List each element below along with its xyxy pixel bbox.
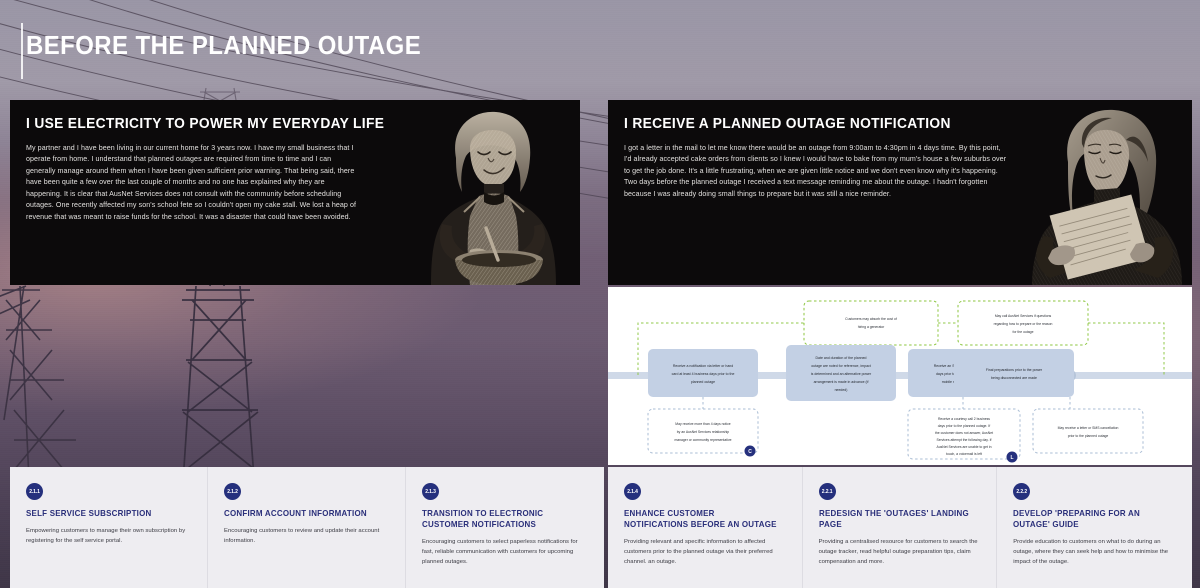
status-badge: 2.2.1 bbox=[819, 483, 836, 500]
story-panel-body: I RECEIVE A PLANNED OUTAGE NOTIFICATION … bbox=[624, 116, 1009, 200]
svg-text:arrangement is made in advance: arrangement is made in advance (if bbox=[814, 380, 869, 384]
status-badge: 2.1.3 bbox=[422, 483, 439, 500]
svg-text:by an AusNet Services relation: by an AusNet Services relationship bbox=[677, 430, 730, 434]
svg-text:outage are noted for reference: outage are noted for reference, impact bbox=[811, 364, 871, 368]
recommendation-title: SELF SERVICE SUBSCRIPTION bbox=[26, 508, 186, 519]
svg-text:manager or community represent: manager or community representative bbox=[674, 438, 731, 442]
customer-journey-diagram: Customers may absorb the cost of hiring … bbox=[608, 287, 1192, 465]
green-note-call-ausnet: May call AusNet Services if questions re… bbox=[958, 301, 1088, 345]
svg-text:touch, a voicemail is left: touch, a voicemail is left bbox=[946, 452, 982, 456]
blue-note-cancellation: May receive a letter or SMS cancellation… bbox=[1033, 409, 1143, 453]
recommendations-strip-right: 2.1.4 ENHANCE CUSTOMER NOTIFICATIONS BEF… bbox=[608, 467, 1192, 588]
svg-text:Final preparations prior to th: Final preparations prior to the power bbox=[986, 368, 1043, 372]
slide-header: BEFORE THE PLANNED OUTAGE bbox=[0, 0, 1200, 100]
story-panel-text: I got a letter in the mail to let me kno… bbox=[624, 143, 1009, 200]
story-panel-title: I USE ELECTRICITY TO POWER MY EVERYDAY L… bbox=[26, 116, 340, 132]
timeline-node: Receive a notification via letter or han… bbox=[648, 349, 758, 397]
recommendation-title: CONFIRM ACCOUNT INFORMATION bbox=[224, 508, 384, 519]
svg-text:needed): needed) bbox=[835, 388, 848, 392]
svg-text:Receive a courtesy call 2 busi: Receive a courtesy call 2 business bbox=[938, 417, 990, 421]
status-badge: 2.1.1 bbox=[26, 483, 43, 500]
woman-baking-illustration bbox=[400, 100, 580, 285]
recommendation-card[interactable]: 2.1.1 SELF SERVICE SUBSCRIPTION Empoweri… bbox=[10, 467, 208, 588]
slide-canvas: BEFORE THE PLANNED OUTAGE I USE ELECTRIC… bbox=[0, 0, 1200, 588]
svg-text:card at least 4 business days: card at least 4 business days prior to t… bbox=[672, 372, 735, 376]
recommendation-card[interactable]: 2.1.4 ENHANCE CUSTOMER NOTIFICATIONS BEF… bbox=[608, 467, 803, 588]
blue-note-advance-notice: May receive more than 4 days notice by a… bbox=[648, 409, 758, 457]
recommendation-description: Providing relevant and specific informat… bbox=[624, 537, 786, 567]
story-panel-notification: I RECEIVE A PLANNED OUTAGE NOTIFICATION … bbox=[608, 100, 1192, 285]
svg-text:Date and duration of the plann: Date and duration of the planned bbox=[816, 356, 867, 360]
recommendations-strip-left: 2.1.1 SELF SERVICE SUBSCRIPTION Empoweri… bbox=[10, 467, 604, 588]
svg-text:the customer does not answer,: the customer does not answer, AusNet bbox=[935, 431, 993, 435]
recommendation-description: Empowering customers to manage their own… bbox=[26, 526, 191, 546]
svg-text:L: L bbox=[1010, 455, 1013, 461]
recommendation-card[interactable]: 2.1.2 CONFIRM ACCOUNT INFORMATION Encour… bbox=[208, 467, 406, 588]
recommendation-description: Providing a centralised resource for cus… bbox=[819, 537, 981, 567]
recommendation-card[interactable]: 2.2.2 DEVELOP 'PREPARING FOR AN OUTAGE' … bbox=[997, 467, 1192, 588]
svg-text:May receive more than 4 days n: May receive more than 4 days notice bbox=[675, 422, 731, 426]
recommendation-card[interactable]: 2.1.3 TRANSITION TO ELECTRONIC CUSTOMER … bbox=[406, 467, 604, 588]
svg-text:Services attempt the following: Services attempt the following day. If bbox=[937, 438, 992, 442]
svg-text:for the outage: for the outage bbox=[1013, 330, 1034, 334]
svg-text:being disconnected are made: being disconnected are made bbox=[991, 376, 1037, 380]
title-accent-rule bbox=[21, 23, 23, 79]
story-panel-title: I RECEIVE A PLANNED OUTAGE NOTIFICATION bbox=[624, 116, 990, 132]
status-badge: 2.2.2 bbox=[1013, 483, 1030, 500]
recommendation-description: Provide education to customers on what t… bbox=[1013, 537, 1176, 567]
svg-text:Receive a notification via let: Receive a notification via letter or han… bbox=[673, 364, 733, 368]
svg-text:C: C bbox=[748, 449, 752, 455]
recommendation-title: DEVELOP 'PREPARING FOR AN OUTAGE' GUIDE bbox=[1013, 508, 1171, 530]
svg-text:May call AusNet Services if qu: May call AusNet Services if questions bbox=[995, 314, 1052, 318]
green-note-generator: Customers may absorb the cost of hiring … bbox=[804, 301, 938, 345]
story-panel-electricity: I USE ELECTRICITY TO POWER MY EVERYDAY L… bbox=[10, 100, 580, 285]
svg-text:days prior to the planned outa: days prior to the planned outage. If bbox=[938, 424, 990, 428]
svg-text:hiring a generator: hiring a generator bbox=[858, 325, 885, 329]
svg-text:Customers may absorb the cost: Customers may absorb the cost of bbox=[845, 317, 897, 321]
blue-note-courtesy-call: Receive a courtesy call 2 business days … bbox=[908, 409, 1020, 463]
svg-text:prior to the planned outage: prior to the planned outage bbox=[1068, 434, 1109, 438]
recommendation-title: TRANSITION TO ELECTRONIC CUSTOMER NOTIFI… bbox=[422, 508, 583, 530]
status-badge: 2.1.2 bbox=[224, 483, 241, 500]
timeline-node: Date and duration of the planned outage … bbox=[786, 345, 896, 401]
svg-text:planned outage: planned outage bbox=[691, 380, 715, 384]
timeline-node-final-preparations-4: Final preparations prior to the power be… bbox=[954, 349, 1074, 397]
svg-text:AusNet Services are unable to: AusNet Services are unable to get in bbox=[936, 445, 991, 449]
recommendation-card[interactable]: 2.2.1 REDESIGN THE 'OUTAGES' LANDING PAG… bbox=[803, 467, 998, 588]
recommendation-title: ENHANCE CUSTOMER NOTIFICATIONS BEFORE AN… bbox=[624, 508, 781, 530]
svg-text:is determined and an alternati: is determined and an alternative power bbox=[811, 372, 872, 376]
woman-reading-letter-illustration bbox=[996, 100, 1192, 285]
page-title: BEFORE THE PLANNED OUTAGE bbox=[26, 30, 421, 61]
story-panel-text: My partner and I have been living in our… bbox=[26, 143, 357, 223]
story-panel-body: I USE ELECTRICITY TO POWER MY EVERYDAY L… bbox=[26, 116, 357, 223]
recommendation-description: Encouraging customers to select paperles… bbox=[422, 537, 588, 567]
recommendation-description: Encouraging customers to review and upda… bbox=[224, 526, 389, 546]
svg-text:regarding how to prepare or th: regarding how to prepare or the reason bbox=[994, 322, 1053, 326]
recommendation-title: REDESIGN THE 'OUTAGES' LANDING PAGE bbox=[819, 508, 976, 530]
svg-text:May receive a letter or SMS ca: May receive a letter or SMS cancellation bbox=[1058, 426, 1119, 430]
status-badge: 2.1.4 bbox=[624, 483, 641, 500]
